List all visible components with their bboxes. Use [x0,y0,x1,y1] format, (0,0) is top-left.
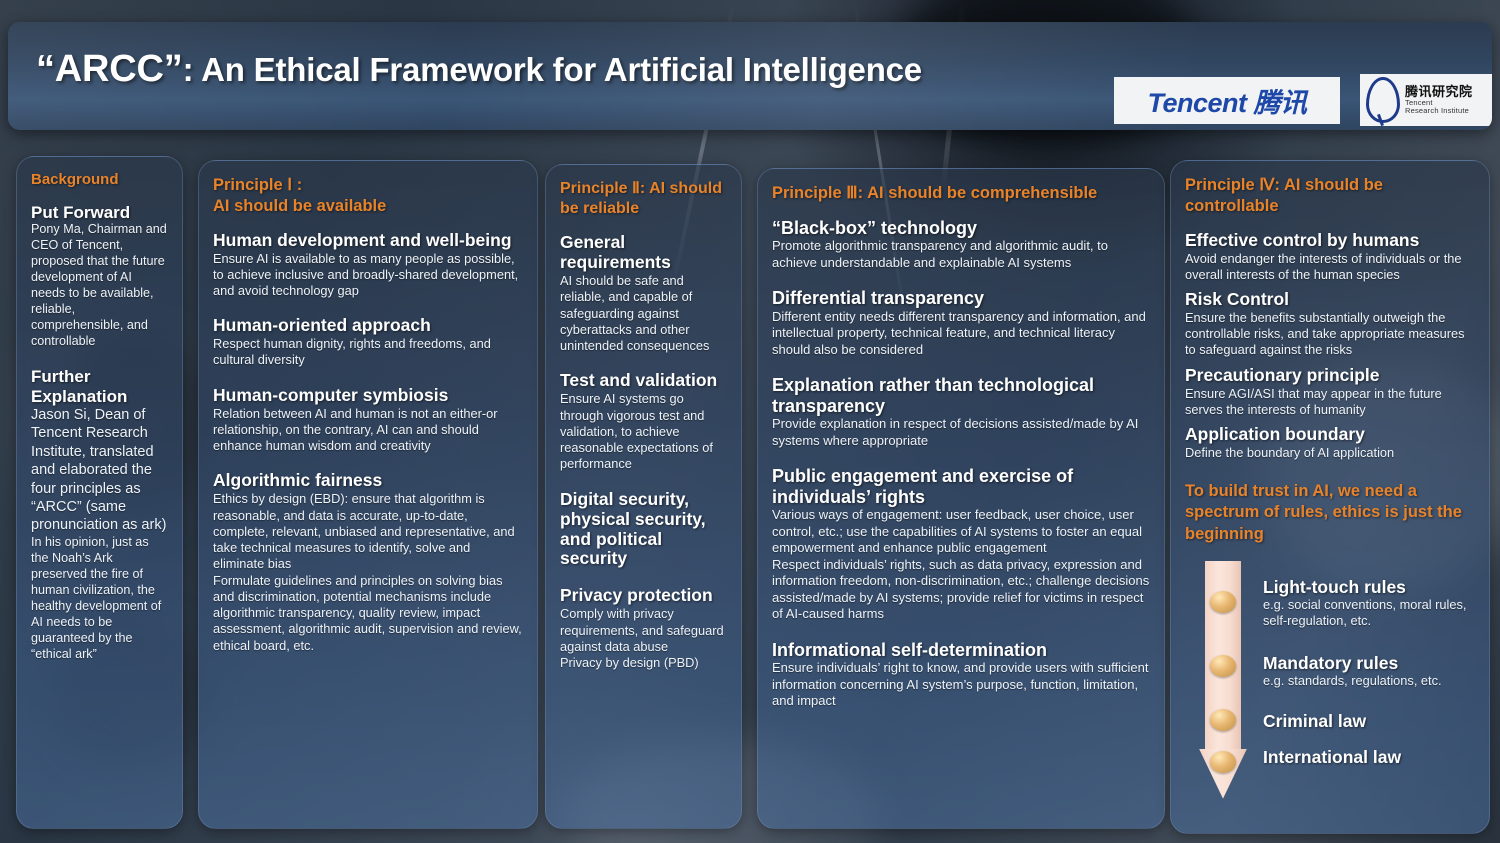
section-body-general-requirements: AI should be safe and reliable, and capa… [560,273,727,354]
panel-principle-2: Principle Ⅱ: AI should be reliable Gener… [545,164,742,829]
tri-mark-icon [1366,77,1400,123]
section-body-effective-control: Avoid endanger the interests of individu… [1185,251,1475,284]
section-heading-put-forward: Put Forward [31,203,168,222]
section-heading-algorithmic-fairness: Algorithmic fairness [213,471,523,491]
section-body-privacy-protection: Comply with privacy requirements, and sa… [560,606,727,655]
section-heading-differential-transparency: Differential transparency [772,288,1150,309]
downward-arrow-graphic [1199,561,1247,799]
panel-principle-2-title: Principle Ⅱ: AI should be reliable [560,179,727,219]
tencent-logo-text: Tencent 腾讯 [1147,81,1306,120]
page-title: “ARCC”: An Ethical Framework for Artific… [36,48,1096,91]
section-body-precautionary-principle: Ensure AGI/ASI that may appear in the fu… [1185,386,1475,419]
trust-note: To build trust in AI, we need a spectrum… [1185,481,1475,544]
panel-principle-3-title: Principle Ⅲ: AI should be comprehensible [772,183,1150,204]
tri-logo-en-1: Tencent [1405,99,1473,107]
rule-item: Criminal law [1263,711,1487,731]
section-heading-privacy-protection: Privacy protection [560,586,727,606]
panel-background-title: Background [31,171,168,190]
rule-label: Light-touch rules [1263,577,1487,597]
section-heading-explanation-rather-than: Explanation rather than technological tr… [772,375,1150,416]
rule-label: Criminal law [1263,711,1487,731]
section-heading-risk-control: Risk Control [1185,290,1475,310]
section-body-further-explanation-2: In his opinion, just as the Noah’s Ark p… [31,535,168,663]
section-heading-human-computer-symbiosis: Human-computer symbiosis [213,386,523,406]
section-body-differential-transparency: Different entity needs different transpa… [772,309,1150,359]
rule-item: Mandatory rules e.g. standards, regulati… [1263,653,1487,689]
tri-logo-en-2: Research Institute [1405,107,1473,115]
rule-label: Mandatory rules [1263,653,1487,673]
section-heading-black-box: “Black-box” technology [772,218,1150,239]
section-body-risk-control: Ensure the benefits substantially outwei… [1185,310,1475,359]
tri-logo-chinese: 腾讯研究院 [1405,85,1473,99]
panel-principle-1: Principle Ⅰ : AI should be available Hum… [198,160,538,829]
rule-item: International law [1263,747,1403,767]
arrow-bead [1210,751,1236,773]
section-body-test-and-validation: Ensure AI systems go through vigorous te… [560,391,727,472]
header-banner: “ARCC”: An Ethical Framework for Artific… [8,22,1492,130]
section-body-human-oriented: Respect human dignity, rights and freedo… [213,336,523,369]
tencent-research-institute-logo: 腾讯研究院 Tencent Research Institute [1360,74,1492,126]
panel-principle-1-title: Principle Ⅰ : AI should be available [213,175,523,217]
rule-detail: e.g. social conventions, moral rules, se… [1263,597,1487,629]
arrow-bead [1210,591,1236,613]
tencent-logo: Tencent 腾讯 [1114,77,1340,124]
rule-detail: e.g. standards, regulations, etc. [1263,673,1487,689]
panel-background: Background Put Forward Pony Ma, Chairman… [16,156,183,829]
section-body-black-box: Promote algorithmic transparency and alg… [772,238,1150,271]
section-body-explanation-rather-than: Provide explanation in respect of decisi… [772,416,1150,449]
section-body-application-boundary: Define the boundary of AI application [1185,445,1475,461]
page-title-arcc: “ARCC” [36,48,183,90]
section-body-informational-self-determination: Ensure individuals’ right to know, and p… [772,660,1150,710]
section-body-algorithmic-fairness-2: Formulate guidelines and principles on s… [213,573,523,654]
page-title-rest: : An Ethical Framework for Artificial In… [183,51,922,88]
section-body-human-development: Ensure AI is available to as many people… [213,251,523,300]
section-heading-effective-control: Effective control by humans [1185,231,1475,251]
panel-principle-4: Principle Ⅳ: AI should be controllable E… [1170,160,1490,834]
section-heading-human-oriented: Human-oriented approach [213,316,523,336]
section-body-algorithmic-fairness: Ethics by design (EBD): ensure that algo… [213,491,523,572]
section-heading-further-explanation: Further Explanation [31,367,168,406]
section-body-public-engagement: Various ways of engagement: user feedbac… [772,507,1150,557]
panel-principle-3: Principle Ⅲ: AI should be comprehensible… [757,168,1165,829]
section-heading-informational-self-determination: Informational self-determination [772,640,1150,661]
section-heading-test-and-validation: Test and validation [560,371,727,391]
arrow-bead [1210,655,1236,677]
section-body-privacy-protection-2: Privacy by design (PBD) [560,655,727,671]
rules-spectrum: Light-touch rules e.g. social convention… [1185,561,1475,801]
section-heading-application-boundary: Application boundary [1185,425,1475,445]
section-heading-public-engagement: Public engagement and exercise of indivi… [772,466,1150,507]
section-body-human-computer-symbiosis: Relation between AI and human is not an … [213,406,523,455]
panel-principle-4-title: Principle Ⅳ: AI should be controllable [1185,175,1475,217]
section-body-public-engagement-2: Respect individuals’ rights, such as dat… [772,557,1150,623]
section-body-further-explanation: Jason Si, Dean of Tencent Research Insti… [31,406,168,535]
infographic-canvas: “ARCC”: An Ethical Framework for Artific… [0,0,1500,843]
arrow-bead [1210,709,1236,731]
section-heading-precautionary-principle: Precautionary principle [1185,366,1475,386]
section-body-put-forward: Pony Ma, Chairman and CEO of Tencent, pr… [31,222,168,350]
rule-label: International law [1263,747,1403,767]
section-heading-human-development: Human development and well-being [213,231,523,251]
section-heading-security: Digital security, physical security, and… [560,490,727,570]
tri-logo-text: 腾讯研究院 Tencent Research Institute [1405,85,1473,114]
rule-item: Light-touch rules e.g. social convention… [1263,577,1487,630]
section-heading-general-requirements: General requirements [560,233,727,273]
